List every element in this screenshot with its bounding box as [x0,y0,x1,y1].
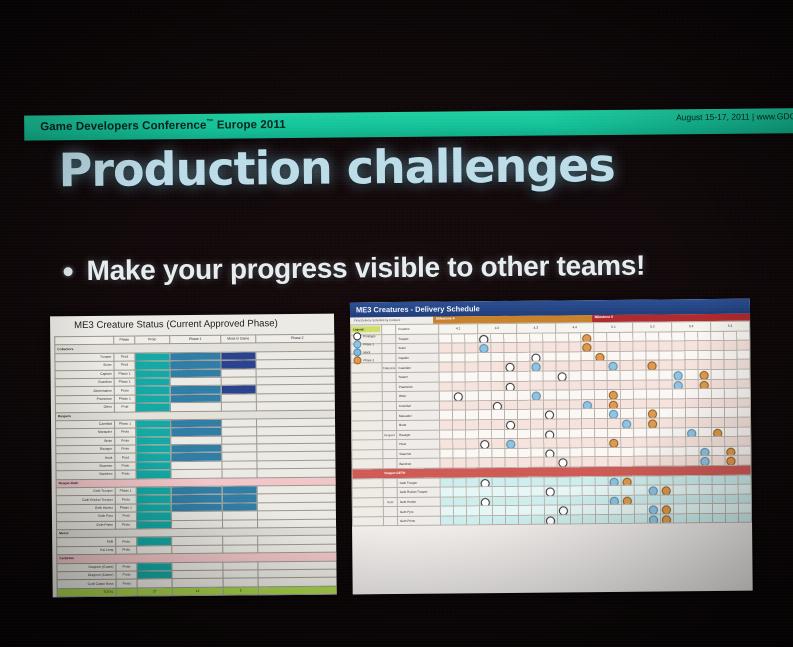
schedule-cell [660,456,673,466]
phase-bar [258,511,337,519]
schedule-cell [622,495,635,505]
delivery-marker-orange [583,343,592,351]
phase-bar [257,377,337,385]
schedule-cell [439,353,452,363]
current-phase: Phase 1 [114,370,135,379]
schedule-cell [581,332,594,342]
phase-bar-cell [136,462,171,471]
current-phase: Proto [116,537,137,546]
phase-bar-cell [223,570,258,579]
totals-value: 12 [172,587,223,595]
schedule-cell [607,351,620,361]
delivery-marker-proto [531,353,540,361]
delivery-marker-blue [531,392,540,400]
schedule-cell [439,410,452,420]
section-label [382,334,396,344]
phase-bar [137,470,171,478]
delivery-marker-blue [609,362,618,370]
schedule-cell [685,350,698,360]
phase-bar [171,394,221,402]
schedule-cell [543,361,556,371]
section-label [383,449,397,459]
creature-name: Marauder [56,429,115,438]
phase-bar-cell [221,377,256,386]
creature-name: Cerb Caster Boss [57,580,116,589]
schedule-cell [596,514,609,524]
phase-bar [172,504,222,512]
schedule-cell [737,331,750,341]
schedule-cell [478,372,491,382]
schedule-cell [583,495,596,505]
phase-bar [256,360,336,368]
schedule-cell [582,457,595,467]
schedule-cell [621,428,634,438]
schedule-cell [504,371,517,381]
schedule-cell [544,476,557,486]
schedule-cell [529,333,542,343]
phase-bar [137,504,171,512]
schedule-cell [659,370,672,380]
schedule-cell [738,455,751,465]
delivery-marker-proto [493,402,502,410]
phase-bar-cell [222,469,257,478]
schedule-cell [647,418,660,428]
schedule-cell [465,372,478,382]
schedule-cell [685,389,698,399]
schedule-cell [725,484,738,494]
legend-spacer [352,430,383,440]
phase-bar-cell [222,452,257,461]
schedule-cell [596,495,609,505]
phase-bar [223,520,257,528]
phase-bar-cell [136,453,171,462]
schedule-cell [492,506,505,516]
creature-name: FAR [57,538,116,547]
phase-bar-cell [222,427,257,436]
delivery-marker-orange [623,496,632,504]
creature-name: Captain [55,370,114,379]
phase-bar-cell [135,394,170,403]
schedule-cell [698,350,711,360]
phase-bar [223,545,257,553]
schedule-cell [711,389,724,399]
schedule-cell [466,439,479,449]
delivery-marker-blue [674,381,683,389]
delivery-marker-orange [648,419,657,427]
phase-bar [258,519,337,527]
current-phase: Prod [115,453,136,462]
schedule-cell [569,428,582,438]
phase-bar [257,444,336,452]
schedule-cell [673,418,686,428]
schedule-cell [569,457,582,467]
phase-bar [258,486,337,494]
schedule-cell [686,504,699,514]
bullet-dot-icon [64,267,73,276]
schedule-cell [648,514,661,524]
schedule-cell [608,476,621,486]
schedule-cell [505,506,518,516]
schedule-cell [569,419,582,429]
schedule-cell [699,417,712,427]
schedule-cell [660,399,673,409]
schedule-cell [737,359,750,369]
schedule-cell [478,410,491,420]
creature-name: Banshee [397,458,440,468]
current-phase: Prod [115,512,136,521]
delivery-marker-proto [558,507,567,515]
schedule-cell [634,389,647,399]
schedule-cell [635,495,648,505]
schedule-cell [673,437,686,447]
table-body: CollectorsTrooperProdScionProdCaptainPha… [55,342,337,596]
schedule-cell [621,409,634,419]
schedule-cell [440,497,453,507]
schedule-cell [530,390,543,400]
schedule-cell [504,381,517,391]
schedule-cell [491,391,504,401]
section-label [382,344,396,354]
schedule-cell [738,427,751,437]
schedule-cell [633,332,646,342]
schedule-cell [609,485,622,495]
schedule-cell [530,381,543,391]
legend-spacer [352,449,383,459]
phase-bar-cell [222,419,257,428]
phase-bar [223,503,257,511]
phase-bar-cell [137,562,172,571]
phase-bar-cell [136,428,171,437]
legend-spacer [351,373,382,383]
delivery-marker-proto [481,498,490,506]
schedule-cell [505,448,518,458]
schedule-cell [634,447,647,457]
schedule-cell [594,361,607,371]
creature-name: Brute [397,420,440,430]
schedule-cell [544,496,557,506]
delivery-schedule-table: Creature4.14.24.34.45.15.25.35.4 Trooper… [350,321,752,527]
creature-name: Geth Hunter [56,504,115,513]
schedule-cell [712,494,725,504]
schedule-cell [568,332,581,342]
schedule-cell [570,495,583,505]
schedule-cell [724,408,737,418]
schedule-cell [504,391,517,401]
phase-bar [171,403,221,411]
legend-spacer [351,363,382,373]
schedule-cell [530,371,543,381]
schedule-cell [648,495,661,505]
delivery-marker-orange [700,381,709,389]
schedule-cell [673,408,686,418]
schedule-cell [608,447,621,457]
schedule-cell [542,333,555,343]
schedule-cell [452,333,465,343]
schedule-cell [530,352,543,362]
schedule-cell [595,438,608,448]
schedule-cell [646,370,659,380]
delivery-marker-orange [609,391,618,399]
creature-name: Captain [396,353,439,363]
schedule-cell [620,351,633,361]
schedule-cell [711,331,724,341]
conference-brand: Game Developers Conference™ Europe 2011 [40,118,286,133]
schedule-cell [531,496,544,506]
phase-bar [137,521,171,529]
section-label [382,382,396,392]
schedule-cell [634,476,647,486]
schedule-cell [556,380,569,390]
schedule-cell [543,448,556,458]
schedule-cell [453,429,466,439]
schedule-cell [621,476,634,486]
creature-name: Dragoon (Caster) [57,571,116,580]
phase-bar [137,538,171,546]
legend-spacer [351,401,382,411]
schedule-cell [724,388,737,398]
schedule-cell [491,400,504,410]
schedule-cell [581,351,594,361]
schedule-cell [491,352,504,362]
schedule-cell [570,486,583,496]
schedule-cell [479,458,492,468]
schedule-cell [556,457,569,467]
schedule-cell [465,400,478,410]
schedule-cell [647,428,660,438]
week-column-header: 5.1 [594,322,633,332]
delivery-marker-proto [545,411,554,419]
section-label [382,411,396,421]
schedule-cell [504,429,517,439]
schedule-cell [453,458,466,468]
schedule-cell [556,371,569,381]
schedule-cell [582,438,595,448]
creature-status-table: PhaseProtoPhase 1Mock In GamePhase 2 Col… [54,334,336,597]
schedule-cell [595,370,608,380]
schedule-cell [478,391,491,401]
schedule-cell [452,353,465,363]
phase-bar [171,453,221,461]
schedule-cell [621,457,634,467]
schedule-cell [439,391,452,401]
schedule-cell [531,486,544,496]
legend-spacer [352,440,383,450]
phase-bar-cell [222,494,257,503]
schedule-cell [686,485,699,495]
schedule-cell [465,353,478,363]
delivery-marker-proto [545,488,554,496]
creature-name: Scion [55,361,114,370]
schedule-cell [555,352,568,362]
creature-name: Geth Prime [397,516,440,526]
schedule-cell [622,485,635,495]
schedule-cell [569,447,582,457]
current-phase: Proto [116,571,137,580]
schedule-cell [608,437,621,447]
schedule-cell [439,343,452,353]
schedule-cell [698,341,711,351]
phase-bar [170,361,220,369]
schedule-cell [711,341,724,351]
schedule-cell [466,429,479,439]
schedule-cell [581,342,594,352]
phase-bar [258,469,337,477]
schedule-cell [672,331,685,341]
schedule-cell [466,448,479,458]
creature-name: Marauder [396,410,439,420]
phase-bar-cell [136,436,171,445]
totals-value: 5 [223,587,258,595]
legend-spacer [351,382,382,392]
schedule-cell [556,400,569,410]
schedule-cell [712,456,725,466]
phase-bar [222,394,256,402]
schedule-cell [737,398,750,408]
schedule-cell [660,427,673,437]
schedule-cell [711,379,724,389]
schedule-cell [492,439,505,449]
current-phase: Proto [115,495,136,504]
phase-bar-cell [135,403,170,412]
schedule-cell [673,427,686,437]
schedule-cell [711,408,724,418]
schedule-cell [660,495,673,505]
delivery-marker-blue [687,429,696,437]
schedule-cell [465,420,478,430]
schedule-cell [518,448,531,458]
creature-name: Abomination [55,387,114,396]
phase-bar-cell [136,495,171,504]
phase-bar [172,545,222,553]
schedule-cell [659,341,672,351]
schedule-cell [583,505,596,515]
schedule-cell [452,343,465,353]
phase-bar [135,353,169,361]
creature-name: Geth Pyro [56,512,115,521]
schedule-cell [542,342,555,352]
schedule-cell [453,439,466,449]
schedule-cell [479,439,492,449]
schedule-cell [452,362,465,372]
schedule-cell [555,342,568,352]
schedule-cell [465,381,478,391]
creature-name: Ravager [56,445,115,454]
schedule-cell [440,458,453,468]
phase-bar [171,436,221,444]
legend-spacer [352,488,383,498]
schedule-cell [517,410,530,420]
schedule-cell [440,477,453,487]
creature-name: Geth Trooper [56,487,115,496]
schedule-cell [646,360,659,370]
schedule-cell [453,506,466,516]
schedule-cell [505,515,518,525]
phase-bar [223,512,257,520]
delivery-marker-orange [700,371,709,379]
delivery-marker-proto [546,516,555,524]
schedule-cell [517,390,530,400]
schedule-cell [621,437,634,447]
schedule-cell [556,438,569,448]
schedule-cell [686,475,699,485]
phase-bar [223,570,257,578]
schedule-cell [582,409,595,419]
phase-bar-cell [223,536,258,545]
phase-bar-cell [221,385,256,394]
schedule-cell [595,390,608,400]
conference-header-bar: Game Developers Conference™ Europe 2011 … [24,108,793,141]
schedule-cell [453,516,466,526]
schedule-cell [724,398,737,408]
schedule-cell [673,475,686,485]
schedule-cell [634,428,647,438]
phase-bar-cell [137,579,172,588]
schedule-cell [699,475,712,485]
delivery-marker-orange [583,334,592,342]
schedule-cell [633,360,646,370]
page-title: Production challenges [58,138,615,197]
phase-bar [172,487,222,495]
current-phase: Proto [116,563,137,572]
phase-bar [137,496,171,504]
phase-bar [136,403,170,411]
delivery-marker-orange [662,506,671,514]
schedule-cell [737,369,750,379]
schedule-cell [737,379,750,389]
schedule-cell [530,438,543,448]
schedule-cell [711,369,724,379]
schedule-cell [556,361,569,371]
phase-bar [258,502,337,510]
schedule-cell [711,360,724,370]
schedule-cell [531,515,544,525]
delivery-marker-blue [610,497,619,505]
schedule-cell [608,390,621,400]
schedule-cell [556,390,569,400]
schedule-cell [453,449,466,459]
schedule-cell [660,475,673,485]
presentation-slide: Game Developers Conference™ Europe 2011 … [0,100,793,628]
schedule-cell [452,420,465,430]
schedule-cell [660,418,673,428]
schedule-cell [466,496,479,506]
legend-item-label: Prototype [363,334,375,338]
schedule-cell [608,418,621,428]
schedule-cell [661,504,674,514]
phase-bar [171,386,221,394]
schedule-cell [738,503,751,513]
schedule-cell [725,513,738,523]
creature-name: Geth Rocket Trooper [397,487,440,497]
bullet-item: Make your progress visible to other team… [63,250,645,288]
phase-bar [222,402,256,410]
schedule-cell [570,505,583,515]
totals-value [258,586,337,595]
phase-bar-cell [221,394,256,403]
phase-bar [258,569,336,577]
schedule-cell [440,420,453,430]
schedule-cell [556,419,569,429]
schedule-cell [724,379,737,389]
schedule-cell [491,410,504,420]
phase-bar [135,361,169,369]
legend-spacer [352,421,383,431]
phase-bar [257,385,337,393]
schedule-cell [621,389,634,399]
left-col-header: Proto [135,336,170,345]
section-label: Collectors [382,363,396,373]
schedule-cell [609,514,622,524]
